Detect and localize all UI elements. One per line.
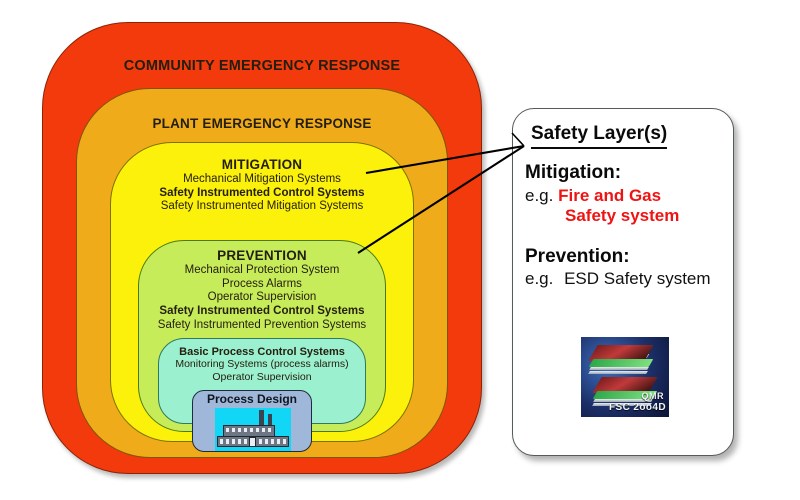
list-item: Mechanical Mitigation Systems — [111, 173, 413, 187]
list-item: Operator Supervision — [139, 291, 385, 305]
photo-caption-fsc: FSC 2oo4D — [609, 402, 666, 413]
panel-example-mitigation: e.g. Fire and Gas Safety system — [525, 186, 733, 226]
process-design-box[interactable]: Process Design — [192, 390, 312, 452]
panel-example-mitigation-line1: Fire and Gas — [558, 186, 661, 205]
layer-title-plant-emergency-response: PLANT EMERGENCY RESPONSE — [77, 117, 447, 131]
eg-label-prevention: e.g. — [525, 269, 553, 288]
panel-heading-mitigation: Mitigation: — [525, 162, 733, 184]
layer-items-prevention: Mechanical Protection System Process Ala… — [139, 264, 385, 332]
industrial-plant-icon — [215, 408, 291, 452]
panel-example-prevention: e.g. ESD Safety system — [525, 269, 733, 289]
list-item: Safety Instrumented Control Systems — [139, 305, 385, 319]
process-design-label: Process Design — [193, 393, 311, 406]
photo-caption-qmr: QMR — [642, 391, 665, 401]
list-item: Safety Instrumented Control Systems — [111, 187, 413, 201]
layer-title-prevention: PREVENTION — [139, 249, 385, 263]
layer-title-mitigation: MITIGATION — [111, 158, 413, 172]
qmr-fsc-controller-photo: QMR FSC 2oo4D — [581, 337, 669, 417]
panel-title: Safety Layer(s) — [531, 123, 667, 149]
panel-example-mitigation-line2: Safety system — [565, 206, 733, 226]
diagram-canvas: COMMUNITY EMERGENCY RESPONSE PLANT EMERG… — [0, 0, 800, 500]
list-item: Basic Process Control Systems — [159, 346, 365, 358]
eg-label-mitigation: e.g. — [525, 186, 553, 205]
panel-example-prevention-line1: ESD Safety system — [564, 269, 710, 288]
list-item: Operator Supervision — [159, 371, 365, 383]
layer-items-mitigation: Mechanical Mitigation Systems Safety Ins… — [111, 173, 413, 214]
layer-items-basic-process-control: Basic Process Control Systems Monitoring… — [159, 346, 365, 383]
list-item: Safety Instrumented Prevention Systems — [139, 319, 385, 333]
list-item: Mechanical Protection System — [139, 264, 385, 278]
layer-title-community-emergency-response: COMMUNITY EMERGENCY RESPONSE — [43, 59, 481, 74]
safety-layers-panel[interactable]: Safety Layer(s) Mitigation: e.g. Fire an… — [512, 108, 734, 456]
list-item: Monitoring Systems (process alarms) — [159, 358, 365, 370]
panel-heading-prevention: Prevention: — [525, 246, 733, 268]
list-item: Process Alarms — [139, 278, 385, 292]
list-item: Safety Instrumented Mitigation Systems — [111, 200, 413, 214]
